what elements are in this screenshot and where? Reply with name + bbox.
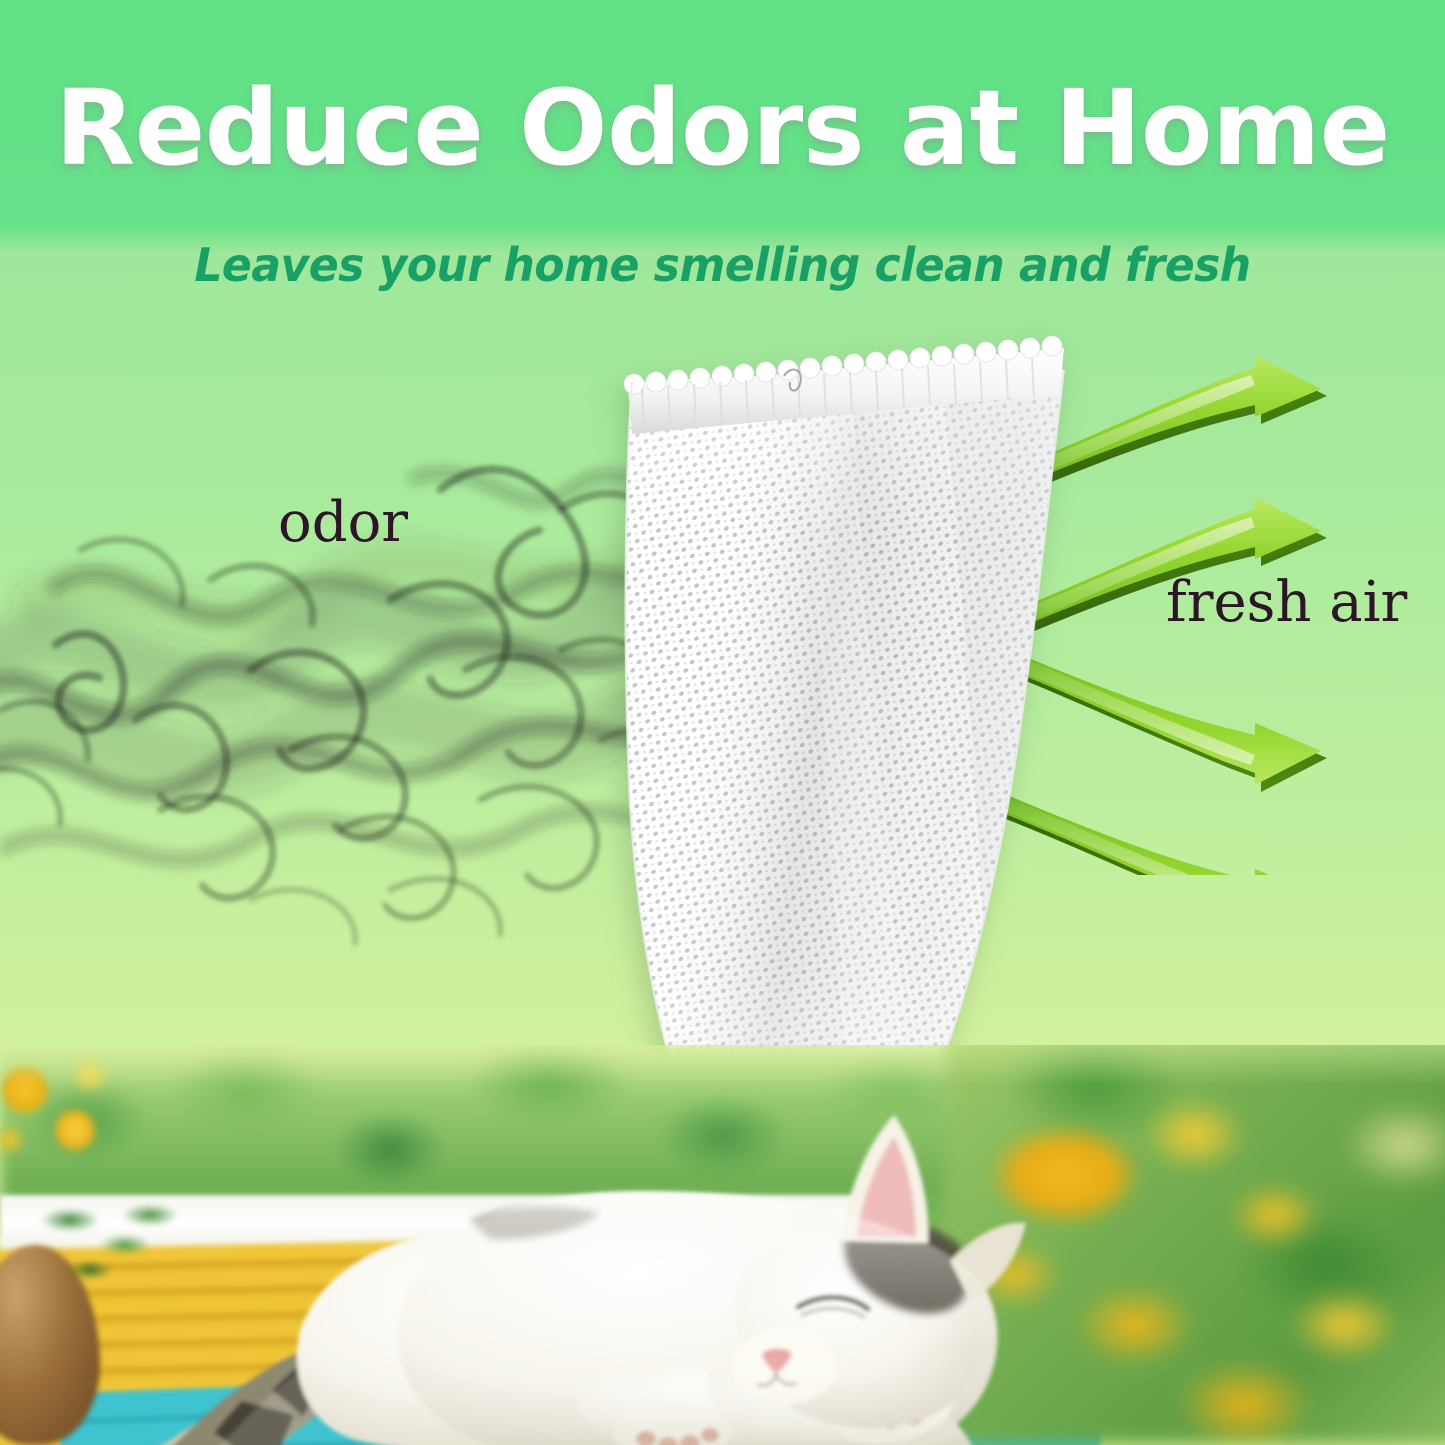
product-deodorizer-bag: [612, 336, 1082, 1126]
scene-top-fade: [0, 1045, 1445, 1085]
page-title: Reduce Odors at Home: [0, 74, 1445, 183]
page-subtitle: Leaves your home smelling clean and fres…: [29, 238, 1416, 292]
product-marketing-poster: Reduce Odors at Home Leaves your home sm…: [0, 0, 1445, 1445]
fresh-air-label: fresh air: [1166, 570, 1407, 635]
sleeping-cat: [150, 1081, 1030, 1445]
odor-label: odor: [278, 490, 408, 555]
bottom-photo-scene: [0, 1045, 1445, 1445]
